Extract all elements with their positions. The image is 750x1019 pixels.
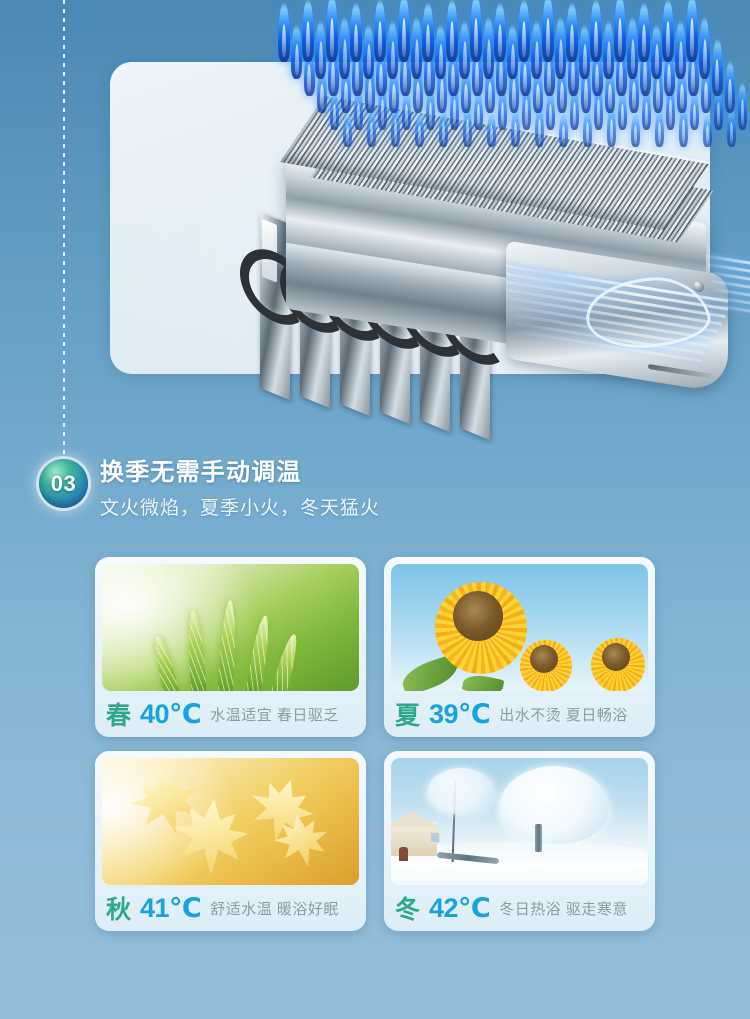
season-card-summer[interactable]: 夏 39℃ 出水不烫 夏日畅浴 — [384, 557, 655, 737]
flame-icon — [690, 90, 699, 130]
flame-icon — [446, 0, 458, 62]
flame-icon — [374, 0, 386, 62]
flame-icon — [422, 2, 434, 62]
season-desc-spring: 水温适宜 春日驱乏 — [210, 704, 339, 725]
flame-icon — [566, 2, 578, 62]
section-title: 换季无需手动调温 — [100, 452, 660, 487]
flame-icon — [675, 20, 686, 79]
season-cards-grid: 春 40℃ 水温适宜 春日驱乏 夏 39℃ 出水不烫 夏日畅浴 — [95, 557, 655, 931]
flame-icon — [326, 0, 338, 62]
flame-icon — [542, 0, 554, 62]
section-heading-block: 换季无需手动调温 文火微焰，夏季小火，冬天猛火 — [100, 452, 660, 520]
season-name-autumn: 秋 — [106, 890, 131, 926]
season-temp-summer: 39℃ — [429, 699, 490, 730]
hero-product-panel — [110, 62, 710, 374]
season-card-spring[interactable]: 春 40℃ 水温适宜 春日驱乏 — [95, 557, 366, 737]
section-subtitle: 文火微焰，夏季小火，冬天猛火 — [100, 493, 660, 520]
flame-icon — [555, 16, 566, 79]
flame-icon — [531, 20, 542, 79]
season-label-spring: 春 40℃ 水温适宜 春日驱乏 — [102, 691, 359, 737]
flame-icon — [546, 90, 555, 130]
flame-icon — [614, 0, 626, 62]
flame-icon — [703, 112, 712, 147]
house-window — [430, 832, 440, 843]
season-photo-summer — [391, 564, 648, 691]
season-name-winter: 冬 — [395, 890, 420, 926]
flame-icon — [699, 16, 710, 79]
flame-icon — [330, 90, 339, 130]
flame-icon — [631, 112, 640, 147]
flame-icon — [651, 24, 662, 79]
flame-icon — [339, 16, 350, 79]
flame-icon — [638, 2, 650, 62]
dashed-connector-line — [63, 0, 65, 462]
section-number-badge: 03 — [39, 459, 88, 508]
season-name-summer: 夏 — [395, 696, 420, 732]
season-label-winter: 冬 42℃ 冬日热浴 驱走寒意 — [391, 885, 648, 931]
flame-icon — [387, 20, 398, 79]
flame-icon — [725, 60, 735, 113]
season-temp-spring: 40℃ — [140, 699, 201, 730]
flame-icon — [415, 112, 424, 147]
season-card-winter[interactable]: 冬 42℃ 冬日热浴 驱走寒意 — [384, 751, 655, 931]
season-photo-winter — [391, 758, 648, 885]
flame-icon — [494, 2, 506, 62]
flame-icon — [487, 112, 496, 147]
season-photo-autumn — [102, 758, 359, 885]
house-roof — [391, 811, 440, 827]
flame-icon — [559, 112, 568, 147]
flame-icon — [398, 0, 410, 62]
season-desc-autumn: 舒适水温 暖浴好眠 — [210, 898, 339, 919]
season-label-summer: 夏 39℃ 出水不烫 夏日畅浴 — [391, 691, 648, 737]
flame-icon — [579, 24, 590, 79]
flame-icon — [411, 16, 422, 79]
flame-icon — [518, 0, 530, 62]
flame-icon — [603, 20, 614, 79]
flame-icon — [363, 24, 374, 79]
house-door — [399, 847, 408, 861]
flame-icon — [315, 20, 326, 79]
flame-icon — [350, 2, 362, 62]
season-name-spring: 春 — [106, 696, 131, 732]
frost-tree-trunk — [535, 824, 542, 852]
flame-icon — [291, 24, 302, 79]
season-desc-summer: 出水不烫 夏日畅浴 — [499, 704, 628, 725]
season-temp-autumn: 41℃ — [140, 893, 201, 924]
flame-icon — [712, 38, 723, 96]
flame-icon — [302, 0, 314, 62]
flame-icon — [435, 24, 446, 79]
flame-icon — [507, 24, 518, 79]
blue-flame-array — [260, 14, 730, 204]
flame-icon — [439, 108, 448, 147]
frost-tree-large — [499, 766, 609, 844]
frost-tree-small — [427, 768, 495, 814]
season-photo-spring — [102, 564, 359, 691]
flame-icon — [583, 108, 592, 147]
flame-icon — [662, 0, 674, 62]
flame-icon — [367, 108, 376, 147]
flame-icon — [727, 108, 736, 147]
flame-icon — [686, 0, 698, 62]
flame-icon — [474, 90, 483, 130]
flame-icon — [511, 108, 520, 147]
flame-icon — [343, 112, 352, 147]
flame-icon — [459, 20, 470, 79]
flame-icon — [627, 16, 638, 79]
flame-icon — [655, 108, 664, 147]
flame-icon — [483, 16, 494, 79]
flame-icon — [738, 82, 747, 130]
season-desc-winter: 冬日热浴 驱走寒意 — [499, 898, 628, 919]
flame-icon — [402, 90, 411, 130]
flame-icon — [278, 2, 290, 62]
flame-icon — [618, 90, 627, 130]
flame-icon — [470, 0, 482, 62]
season-card-autumn[interactable]: 秋 41℃ 舒适水温 暖浴好眠 — [95, 751, 366, 931]
flame-icon — [590, 0, 602, 62]
section-number-text: 03 — [51, 471, 76, 497]
season-label-autumn: 秋 41℃ 舒适水温 暖浴好眠 — [102, 885, 359, 931]
season-temp-winter: 42℃ — [429, 893, 490, 924]
